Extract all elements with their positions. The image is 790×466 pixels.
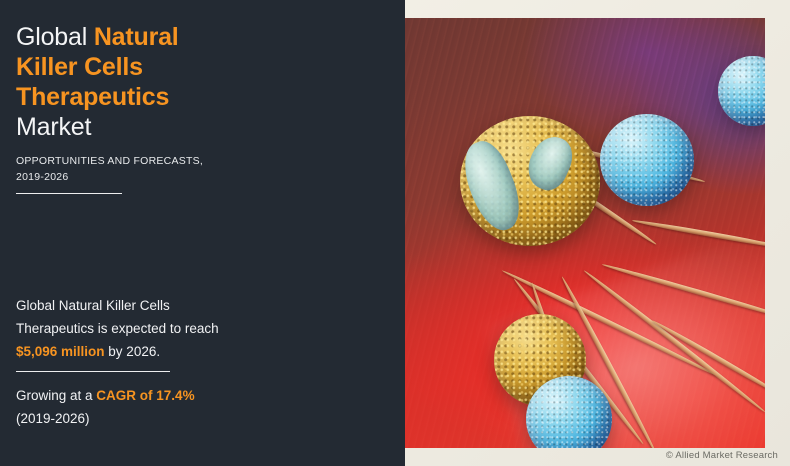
market-value-text-before: Global Natural Killer Cells Therapeutics… [16, 298, 219, 336]
headline-words-killer-cells: Killer Cells [16, 53, 143, 81]
hero-image-visible-region [405, 18, 765, 448]
cagr-statement: Growing at a CAGR of 17.4% (2019-2026) [16, 384, 232, 430]
natural-killer-cell [600, 114, 694, 206]
market-value-statement: Global Natural Killer Cells Therapeutics… [16, 294, 232, 363]
poster-canvas: Global Natural Killer Cells Therapeutics… [0, 0, 790, 466]
market-value-highlight: $5,096 million [16, 344, 105, 359]
divider-bottom [16, 371, 170, 372]
cagr-text-before: Growing at a [16, 388, 96, 403]
hero-image-visible-inner [405, 18, 765, 448]
headline-word-natural: Natural [94, 23, 179, 51]
poster-headline: Global Natural Killer Cells Therapeutics… [16, 22, 228, 142]
cagr-text-after: (2019-2026) [16, 411, 90, 426]
copyright-credit: © Allied Market Research [666, 450, 778, 461]
cell-surface-texture [600, 114, 694, 206]
text-column: Global Natural Killer Cells Therapeutics… [16, 0, 226, 466]
market-value-text-after: by 2026. [105, 344, 161, 359]
headline-word-market: Market [16, 113, 91, 141]
headline-word-therapeutics: Therapeutics [16, 83, 169, 111]
divider-top [16, 193, 122, 194]
cagr-highlight: CAGR of 17.4% [96, 388, 194, 403]
poster-subtitle: OPPORTUNITIES AND FORECASTS, 2019-2026 [16, 153, 221, 185]
headline-word-global: Global [16, 23, 94, 51]
